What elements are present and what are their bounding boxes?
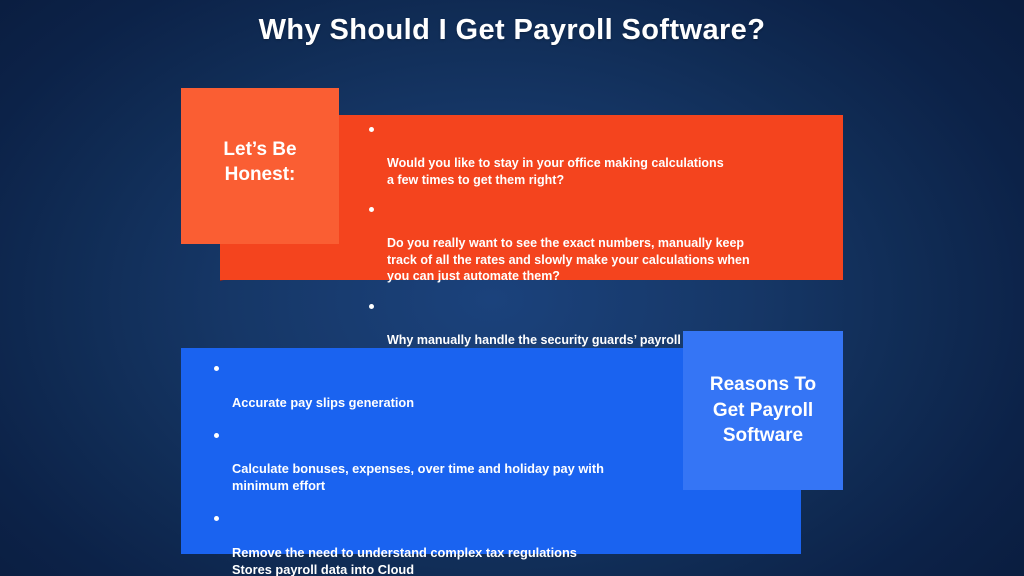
list-item-text: Calculate bonuses, expenses, over time a… bbox=[232, 461, 604, 493]
bullet-dot-icon bbox=[214, 366, 219, 371]
list-item: Calculate bonuses, expenses, over time a… bbox=[213, 428, 683, 496]
bullet-dot-icon bbox=[214, 516, 219, 521]
honest-bullet-list: Would you like to stay in your office ma… bbox=[368, 122, 828, 365]
page-title: Why Should I Get Payroll Software? bbox=[0, 14, 1024, 47]
honest-badge: Let’s Be Honest: bbox=[181, 88, 339, 244]
list-item-text: Remove the need to understand complex ta… bbox=[232, 545, 577, 576]
bullet-dot-icon bbox=[369, 304, 374, 309]
list-item: Would you like to stay in your office ma… bbox=[368, 122, 828, 188]
bullet-dot-icon bbox=[369, 207, 374, 212]
bullet-dot-icon bbox=[369, 127, 374, 132]
list-item-text: Do you really want to see the exact numb… bbox=[387, 236, 750, 283]
list-item-text: Would you like to stay in your office ma… bbox=[387, 156, 724, 187]
bullet-dot-icon bbox=[214, 433, 219, 438]
list-item: Do you really want to see the exact numb… bbox=[368, 202, 828, 285]
slide-canvas: Why Should I Get Payroll Software? Let’s… bbox=[0, 0, 1024, 576]
reasons-bullet-list: Accurate pay slips generation Calculate … bbox=[213, 361, 683, 576]
list-item-text: Accurate pay slips generation bbox=[232, 395, 414, 410]
list-item: Accurate pay slips generation bbox=[213, 361, 683, 412]
reasons-badge: Reasons To Get Payroll Software bbox=[683, 331, 843, 490]
reasons-badge-label: Reasons To Get Payroll Software bbox=[710, 372, 816, 448]
list-item: Remove the need to understand complex ta… bbox=[213, 511, 683, 576]
honest-badge-label: Let’s Be Honest: bbox=[223, 137, 296, 187]
